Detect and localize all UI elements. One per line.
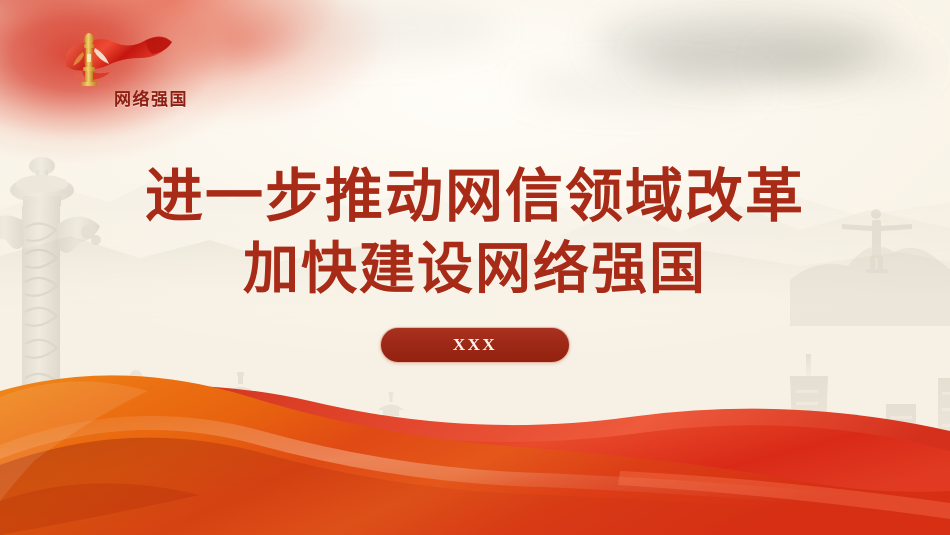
stone-lion-icon xyxy=(108,368,168,438)
red-waving-flag-icon xyxy=(52,28,212,90)
cta-container: XXX xyxy=(0,327,950,363)
presentation-cover-slide: 网络强国 进一步推动网信领域改革 加快建设网络强国 XXX xyxy=(0,0,950,535)
title-line-1: 进一步推动网信领域改革 xyxy=(0,168,950,226)
page-title: 进一步推动网信领域改革 加快建设网络强国 xyxy=(0,168,950,298)
logo-label: 网络强国 xyxy=(114,85,188,110)
presenter-name-button[interactable]: XXX xyxy=(380,327,570,363)
temple-of-heaven-icon xyxy=(195,372,287,452)
pagoda-icon xyxy=(370,392,412,452)
brand-logo: 网络强国 xyxy=(52,28,212,90)
title-line-2: 加快建设网络强国 xyxy=(0,242,950,298)
